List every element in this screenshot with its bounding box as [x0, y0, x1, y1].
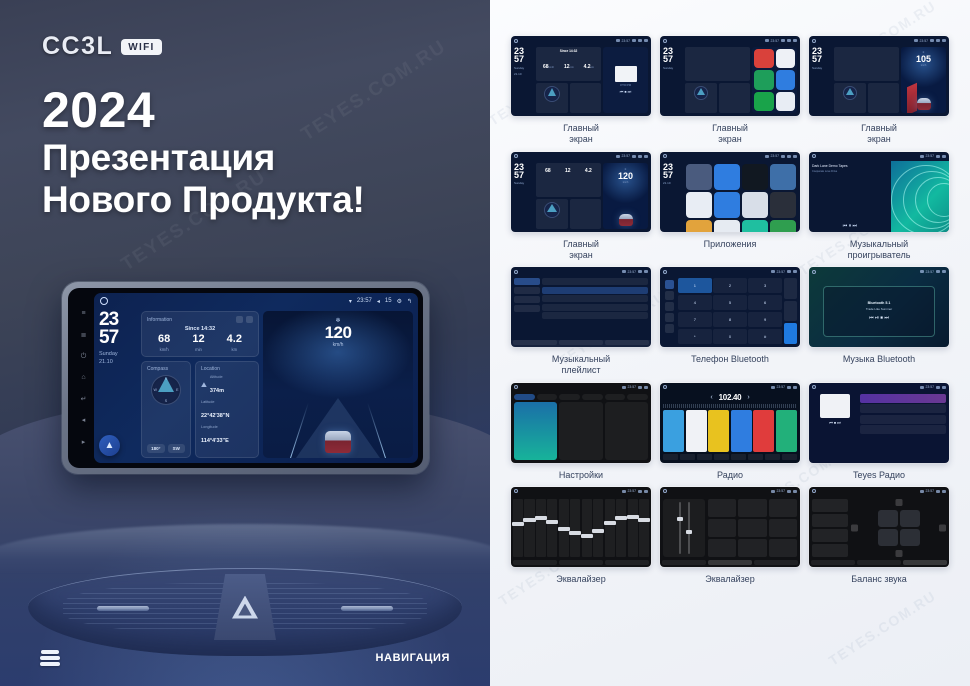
clock-date: 21.10 — [99, 359, 137, 366]
gallery-item-equalizer[interactable]: 23:57 — [511, 487, 651, 585]
screen-thumbnail[interactable]: 23:57 23 57 Sunday — [660, 36, 800, 116]
dial-key[interactable]: 9 — [748, 312, 782, 327]
screen-thumbnail[interactable]: 23:57 23 57 Sunday 21.10 Since 14:32 — [511, 36, 651, 116]
clock-weekday: Sunday — [663, 66, 683, 70]
wifi-icon — [771, 386, 775, 389]
widgets-row: Compass N E S W 180° — [141, 361, 259, 458]
head-unit: ≡ ≣ ⏻ ⌂ ↵ ◂ ▸ ▾ 23:57 ◂ 15 — [62, 282, 429, 474]
teyes-radio-screen[interactable]: ⏮ ⏹ ⏭ — [809, 392, 949, 463]
thumb-status-bar: 23:57 — [809, 383, 949, 392]
playlist-nav[interactable] — [514, 278, 540, 337]
balance-bottom-tabs[interactable] — [809, 560, 949, 567]
screen-body: 23 57 Sunday 21.10 ▲ Information — [94, 309, 418, 463]
dial-key[interactable]: 3 — [748, 278, 782, 293]
call-icon[interactable] — [784, 323, 797, 344]
player-controls[interactable]: ⏮ ⏯ ⏹ ⏭ — [869, 315, 889, 321]
clock-date: 21.10 — [514, 72, 534, 76]
thumb-status-bar: 23:57 — [809, 36, 949, 45]
information-title: Information — [147, 317, 172, 323]
station-presets[interactable] — [663, 410, 797, 452]
head-unit-screen[interactable]: ▾ 23:57 ◂ 15 ⚙ ↰ 23 57 Sunday 21.10 — [94, 293, 418, 463]
gallery-row: 23:57 23 57 Sunday 68 — [504, 152, 956, 262]
settings-icon — [787, 155, 791, 158]
gallery-item-equalizer2[interactable]: 23:57 Эквалайзер — [660, 487, 800, 585]
compass-heading: 180° — [147, 444, 165, 453]
app-icon[interactable] — [770, 192, 796, 218]
album-art — [820, 394, 850, 418]
app-icon[interactable] — [714, 192, 740, 218]
app-icon[interactable] — [714, 164, 740, 190]
compass-north: N — [165, 377, 168, 381]
gallery-row: 23:57 Музыкальный плейлист 23:57 — [504, 267, 956, 377]
speaker-grid[interactable] — [878, 510, 920, 546]
screen-thumbnail[interactable]: 23:57 Bluetooth 5.1 Trade Like Summer ⏮ … — [809, 267, 949, 347]
thumb-clock: 23 57 Sunday 21.10 — [514, 47, 534, 113]
latitude-value: 22°42'38"N — [201, 413, 229, 419]
screens-gallery: TEYES.COM.RU TEYES.COM.RU TEYES.COM.RU T… — [490, 0, 970, 686]
gallery-caption: Музыкальный плейлист — [552, 354, 610, 377]
status-time: 23:57 — [771, 39, 780, 43]
eq-band[interactable] — [536, 499, 546, 557]
screen-thumbnail[interactable]: 23:57 — [511, 487, 651, 567]
thumb-body: 23 57 21.10 — [660, 161, 800, 232]
screen-thumbnail[interactable]: 23:57 — [809, 487, 949, 567]
app-icon[interactable] — [770, 164, 796, 190]
app-icon[interactable] — [714, 220, 740, 232]
app-icon[interactable] — [754, 49, 774, 68]
gallery-caption: Главный экран — [563, 239, 599, 262]
app-icon[interactable] — [742, 164, 768, 190]
gallery-row: 23:57 — [504, 487, 956, 585]
settings-icon — [787, 270, 791, 273]
wifi-icon — [616, 155, 620, 158]
side-button-volume-down-icon[interactable]: ◂ — [82, 417, 86, 424]
wifi-icon — [920, 386, 924, 389]
now-playing: ⏮ ⏹ ⏭ — [812, 394, 858, 460]
eq-band[interactable] — [547, 499, 557, 557]
thumb-clock: 23 57 Sunday — [663, 47, 683, 113]
status-time: 23:57 — [628, 270, 637, 274]
gallery-item-dialer[interactable]: 23:57 1 2 3 4 5 6 7 8 — [660, 267, 800, 377]
information-widget[interactable]: Information Since 14:32 68 km/h — [141, 311, 259, 357]
wifi-badge: WIFI — [121, 39, 161, 55]
settings-tabs[interactable] — [514, 394, 648, 400]
side-button-column[interactable]: ≡ ≣ ⏻ ⌂ ↵ ◂ ▸ — [73, 293, 94, 463]
gallery-item-balance[interactable]: 23:57 Баланс — [809, 487, 949, 585]
gallery-caption: Телефон Bluetooth — [691, 354, 769, 365]
location-widget[interactable]: Location ⛰ Altitude 374m — [195, 361, 259, 458]
stat-unit: km — [227, 347, 242, 352]
home-icon — [663, 270, 667, 274]
player-controls[interactable]: ⏮ ⏹ ⏭ — [829, 420, 840, 425]
hero-panel: TEYES.COM.RU TEYES.COM.RU TEYES.COM.RU T… — [0, 0, 490, 686]
gallery-caption: Главный экран — [861, 123, 897, 146]
speed-panel[interactable]: ❄ 120 km/h — [263, 311, 413, 458]
thumb-status-bar: 23:57 — [660, 383, 800, 392]
screen-thumbnail[interactable]: 23:57 — [511, 267, 651, 347]
speed-unit: km/h — [921, 64, 927, 67]
eq-band[interactable] — [513, 499, 523, 557]
altitude-value: 374m — [210, 388, 224, 394]
dialer-sidebar[interactable] — [663, 278, 676, 344]
bluetooth-dialer[interactable]: 1 2 3 4 5 6 7 8 9 * 0 # — [660, 276, 800, 347]
back-arrow-icon — [644, 155, 648, 158]
volume-level: 15 — [385, 298, 392, 304]
compass-widget — [536, 199, 568, 229]
gallery-caption: Радио — [717, 470, 743, 481]
backspace-icon[interactable] — [784, 301, 797, 322]
clock-minutes: 57 — [663, 171, 683, 179]
compass-widget — [834, 83, 866, 113]
more-setting-card[interactable] — [605, 402, 648, 460]
star-icon[interactable] — [784, 278, 797, 299]
screen-thumbnail[interactable]: 23:57 23 57 21.10 — [660, 152, 800, 232]
screen-thumbnail[interactable]: 23:57 23 57 Sunday 68 — [511, 152, 651, 232]
road-marking — [907, 83, 917, 113]
gallery-item-bt-music[interactable]: 23:57 Bluetooth 5.1 Trade Like Summer ⏮ … — [809, 267, 949, 377]
eq-band[interactable] — [524, 499, 534, 557]
information-actions[interactable] — [236, 316, 253, 323]
sound-balance[interactable] — [809, 496, 949, 560]
dial-key[interactable]: 2 — [713, 278, 747, 293]
balance-right-button[interactable] — [939, 524, 946, 531]
wifi-icon — [622, 386, 626, 389]
stat-value: 68 — [545, 168, 551, 174]
widgets-column: Information Since 14:32 68 km/h — [141, 311, 259, 458]
dashboard-shelf — [0, 524, 490, 574]
thumb-status-bar: 23:57 — [511, 267, 651, 276]
side-button-power-icon[interactable]: ⏻ — [81, 353, 87, 360]
radio-bottom-nav[interactable] — [663, 454, 797, 460]
back-arrow-icon — [793, 386, 797, 389]
side-button-menu-icon[interactable]: ≡ — [81, 310, 85, 317]
volume-icon[interactable]: ◂ — [377, 298, 380, 305]
side-button-list-icon[interactable]: ≣ — [81, 332, 87, 339]
speed-panel: ❄ 120 km/h — [603, 163, 648, 229]
balance-pad[interactable] — [851, 499, 946, 557]
eq-band[interactable] — [628, 499, 638, 557]
balance-left-button[interactable] — [851, 524, 858, 531]
home-icon — [663, 385, 667, 389]
settings-icon — [936, 490, 940, 493]
stat-item: 12 min — [192, 334, 204, 352]
thumb-widgets — [685, 47, 750, 113]
home-icon — [514, 270, 518, 274]
gallery-item-home-apps[interactable]: 23:57 23 57 Sunday — [660, 36, 800, 146]
stat-item: 4.2 km — [227, 334, 242, 352]
gallery-item-playlist[interactable]: 23:57 Музыкальный плейлист — [511, 267, 651, 377]
settings-icon — [638, 155, 642, 158]
dial-key[interactable]: # — [748, 329, 782, 344]
screen-thumbnail[interactable]: 23:57 23 57 Sunday — [809, 36, 949, 116]
refresh-icon[interactable] — [236, 316, 243, 323]
next-station-icon[interactable]: › — [747, 394, 749, 401]
preset-pads[interactable] — [708, 499, 797, 557]
eq-band[interactable] — [582, 499, 592, 557]
thumb-status-bar: 23:57 — [511, 152, 651, 161]
side-button-volume-up-icon[interactable]: ▸ — [82, 439, 86, 446]
app-icon[interactable] — [742, 220, 768, 232]
settings-cards[interactable] — [514, 402, 648, 460]
gallery-caption: Эквалайзер — [705, 574, 754, 585]
status-time: 23:57 — [926, 385, 935, 389]
wifi-icon — [622, 270, 626, 273]
dial-key[interactable]: 6 — [748, 295, 782, 310]
gallery-caption: Приложения — [704, 239, 757, 250]
screen-thumbnail[interactable]: 23:57 ‹ 102.40 › — [660, 383, 800, 463]
balance-down-button[interactable] — [895, 550, 902, 557]
altitude-row: ⛰ Altitude 374m — [201, 375, 253, 397]
eq-band[interactable] — [593, 499, 603, 557]
dialer-actions[interactable] — [784, 278, 797, 344]
gallery-item-radio[interactable]: 23:57 ‹ 102.40 › — [660, 383, 800, 481]
eq-band[interactable] — [570, 499, 580, 557]
eq-band[interactable] — [559, 499, 569, 557]
app-icon[interactable] — [754, 92, 774, 111]
clock-date: 21.10 — [663, 181, 683, 185]
gallery-caption: Баланс звука — [851, 574, 907, 585]
headline-line1: Презентация — [42, 137, 365, 179]
side-button-back-icon[interactable]: ↵ — [81, 396, 87, 403]
home-icon — [812, 154, 816, 158]
home-icon — [514, 489, 518, 493]
dial-key[interactable]: 1 — [678, 278, 712, 293]
preset-station[interactable] — [686, 410, 707, 452]
balance-presets[interactable] — [812, 499, 848, 557]
gallery-item-teyes-radio[interactable]: 23:57 ⏮ ⏹ ⏭ Teyes Радио — [809, 383, 949, 481]
wifi-setting-card[interactable] — [514, 402, 557, 460]
wifi-icon — [771, 490, 775, 493]
preset-station[interactable] — [731, 410, 752, 452]
back-arrow-icon — [644, 39, 648, 42]
dial-key[interactable]: 5 — [713, 295, 747, 310]
thumb-clock: 23 57 21.10 — [663, 163, 683, 229]
home-icon — [514, 385, 518, 389]
eq-band[interactable] — [605, 499, 615, 557]
volume-icon — [930, 39, 934, 42]
home-icon[interactable] — [100, 297, 108, 305]
tuner[interactable]: ‹ 102.40 › — [663, 393, 797, 402]
app-icon[interactable] — [686, 220, 712, 232]
status-time: 23:57 — [777, 270, 786, 274]
status-time: 23:57 — [622, 154, 631, 158]
clock-weekday: Sunday — [514, 66, 534, 70]
layers-icon[interactable] — [40, 650, 60, 666]
back-arrow-icon — [793, 490, 797, 493]
preset-station[interactable] — [776, 410, 797, 452]
gallery-caption: Teyes Радио — [853, 470, 905, 481]
headline-line2: Нового Продукта! — [42, 179, 365, 221]
wifi-icon — [771, 270, 775, 273]
side-button-home-icon[interactable]: ⌂ — [81, 374, 85, 381]
dial-pad[interactable]: 1 2 3 4 5 6 7 8 9 * 0 # — [678, 278, 782, 344]
eq-bottom-tabs[interactable] — [660, 560, 800, 567]
playlist-rows[interactable] — [542, 278, 648, 337]
gallery-item-settings[interactable]: 23:57 Настройки — [511, 383, 651, 481]
navigation-label: НАВИГАЦИЯ — [376, 652, 450, 664]
back-arrow-icon — [942, 386, 946, 389]
bt-track: Trade Like Summer — [866, 307, 892, 311]
app-icon[interactable] — [770, 220, 796, 232]
gallery-item-player[interactable]: 23:57 Dark Lane Demo Tapes Cooperate Lov… — [809, 152, 949, 262]
mini-player-bar[interactable] — [511, 340, 651, 347]
speed-value: 120 — [325, 324, 352, 341]
thumb-clock: 23 57 Sunday — [514, 163, 534, 229]
settings-screen[interactable] — [511, 392, 651, 463]
app-icon[interactable] — [754, 70, 774, 89]
compass-widget — [536, 83, 568, 113]
eq-band[interactable] — [616, 499, 626, 557]
app-icon[interactable] — [776, 49, 796, 68]
wifi-icon — [920, 270, 924, 273]
information-widget — [685, 47, 750, 81]
back-arrow-icon[interactable]: ↰ — [407, 298, 412, 305]
gallery-item-home-speed2[interactable]: 23:57 23 57 Sunday 68 — [511, 152, 651, 262]
gallery-item-home-speed[interactable]: 23:57 23 57 Sunday — [809, 36, 949, 146]
clock-minutes: 57 — [663, 55, 683, 63]
dial-key[interactable]: 0 — [713, 329, 747, 344]
back-arrow-icon — [644, 270, 648, 273]
navigation-arrow-icon[interactable]: ▲ — [99, 435, 120, 456]
balance-up-button[interactable] — [895, 499, 902, 506]
expand-icon[interactable] — [246, 316, 253, 323]
back-arrow-icon — [793, 39, 797, 42]
thumb-status-bar: 23:57 — [809, 267, 949, 276]
brand-name: CC3L — [42, 32, 113, 61]
settings-icon[interactable]: ⚙ — [397, 298, 402, 305]
thumb-status-bar: 23:57 — [660, 36, 800, 45]
preset-station[interactable] — [708, 410, 729, 452]
dial-key[interactable]: 4 — [678, 295, 712, 310]
radio-screen[interactable]: ‹ 102.40 › — [660, 392, 800, 463]
stat-value: 68 — [158, 334, 170, 345]
gallery-item-apps[interactable]: 23:57 23 57 21.10 — [660, 152, 800, 262]
dial-key[interactable]: 7 — [678, 312, 712, 327]
stat-unit: min — [570, 66, 574, 69]
status-time: 23:57 — [926, 154, 935, 158]
clock-weekday: Sunday — [514, 181, 534, 185]
settings-icon — [936, 155, 940, 158]
wifi-icon: ▾ — [349, 298, 352, 305]
thumb-status-bar: 23:57 — [660, 152, 800, 161]
longitude-value: 114°4'33"E — [201, 438, 229, 444]
media-player-panel: 07:50 PM ⏮ ⏹ ⏭ — [603, 47, 648, 113]
eq-band[interactable] — [639, 499, 649, 557]
status-time: 23:57 — [771, 154, 780, 158]
visualizer — [891, 161, 949, 232]
location-widget — [719, 83, 751, 113]
app-icon[interactable] — [686, 192, 712, 218]
speed-unit: km/h — [333, 342, 344, 348]
stat-value: 4.2 — [584, 64, 591, 70]
stat-item: 68 km/h — [158, 334, 170, 352]
gallery-caption: Главный экран — [712, 123, 748, 146]
compass-widget[interactable]: Compass N E S W 180° — [141, 361, 191, 458]
status-time: 23:57 — [926, 489, 935, 493]
presentation-slide: TEYES.COM.RU TEYES.COM.RU TEYES.COM.RU T… — [0, 0, 970, 686]
carplay-setting-card[interactable] — [559, 402, 602, 460]
vent-slider-right — [341, 606, 393, 611]
wifi-icon — [616, 39, 620, 42]
compass-east: E — [176, 388, 178, 392]
screen-thumbnail[interactable]: 23:57 Dark Lane Demo Tapes Cooperate Lov… — [809, 152, 949, 232]
thumb-body: 23 57 Sunday ❄ — [809, 45, 949, 116]
app-icon[interactable] — [776, 70, 796, 89]
home-icon — [812, 385, 816, 389]
app-icon[interactable] — [776, 92, 796, 111]
gallery-caption: Музыка Bluetooth — [843, 354, 915, 365]
wifi-icon — [914, 39, 918, 42]
screen-thumbnail[interactable]: 23:57 — [660, 487, 800, 567]
preset-station[interactable] — [663, 410, 684, 452]
back-arrow-icon — [942, 155, 946, 158]
dial-key[interactable]: 8 — [713, 312, 747, 327]
dial-key[interactable]: * — [678, 329, 712, 344]
latitude-row: Latitude 22°42'38"N — [201, 400, 253, 422]
location-title: Location — [201, 366, 253, 372]
screen-thumbnail[interactable]: 23:57 — [511, 383, 651, 463]
back-arrow-icon — [793, 270, 797, 273]
compass-dial: N E S W — [151, 375, 181, 405]
gallery-caption: Эквалайзер — [556, 574, 605, 585]
preset-station[interactable] — [753, 410, 774, 452]
compass-widget — [685, 83, 717, 113]
speed-value: 120 — [618, 171, 633, 181]
information-widget: Since 14:32 68km/h 12min 4.2km — [536, 47, 601, 81]
settings-icon — [638, 490, 642, 493]
playlist[interactable] — [511, 276, 651, 340]
information-header: Information — [147, 316, 253, 323]
station-list[interactable] — [860, 394, 946, 460]
app-icon[interactable] — [742, 192, 768, 218]
gallery-item-home-media[interactable]: 23:57 23 57 Sunday 21.10 Since 14:32 — [511, 36, 651, 146]
status-time: 23:57 — [357, 298, 372, 304]
compass-readouts: 180° SW — [147, 444, 185, 453]
app-icon[interactable] — [686, 164, 712, 190]
gallery-caption: Настройки — [559, 470, 603, 481]
thumb-body: 23 57 Sunday — [660, 45, 800, 116]
bass-treble-sliders[interactable] — [663, 499, 705, 557]
screen-thumbnail[interactable]: 23:57 ⏮ ⏹ ⏭ — [809, 383, 949, 463]
eq-bottom-tabs[interactable] — [511, 560, 651, 567]
status-time: 23:57 — [777, 385, 786, 389]
thumb-widget-row — [685, 83, 750, 113]
app-shortcuts-panel — [752, 47, 797, 113]
back-arrow-icon — [942, 270, 946, 273]
gallery-row: 23:57 Настройки — [504, 383, 956, 481]
screen-thumbnail[interactable]: 23:57 1 2 3 4 5 6 7 8 — [660, 267, 800, 347]
settings-icon — [638, 270, 642, 273]
settings-icon — [787, 490, 791, 493]
frequency-scale[interactable] — [663, 404, 797, 408]
settings-icon — [638, 386, 642, 389]
player-controls[interactable]: ⏮ ⏸ ⏭ — [812, 223, 888, 229]
altitude-label: Altitude — [210, 375, 224, 379]
thumb-widgets: 68 12 4.2 — [536, 163, 601, 229]
trip-since: Since 14:32 — [538, 49, 599, 53]
location-widget — [570, 199, 602, 229]
status-time: 23:57 — [622, 39, 631, 43]
track-time: 07:50 PM — [620, 84, 631, 87]
stat-value: 12 — [565, 168, 571, 174]
equalizer-presets[interactable] — [660, 496, 800, 560]
prev-station-icon[interactable]: ‹ — [710, 394, 712, 401]
equalizer-bands[interactable] — [511, 496, 651, 560]
app-grid[interactable] — [685, 163, 797, 229]
thumb-widget-row — [536, 199, 601, 229]
clock-weekday: Sunday — [812, 66, 832, 70]
back-arrow-icon — [942, 39, 946, 42]
